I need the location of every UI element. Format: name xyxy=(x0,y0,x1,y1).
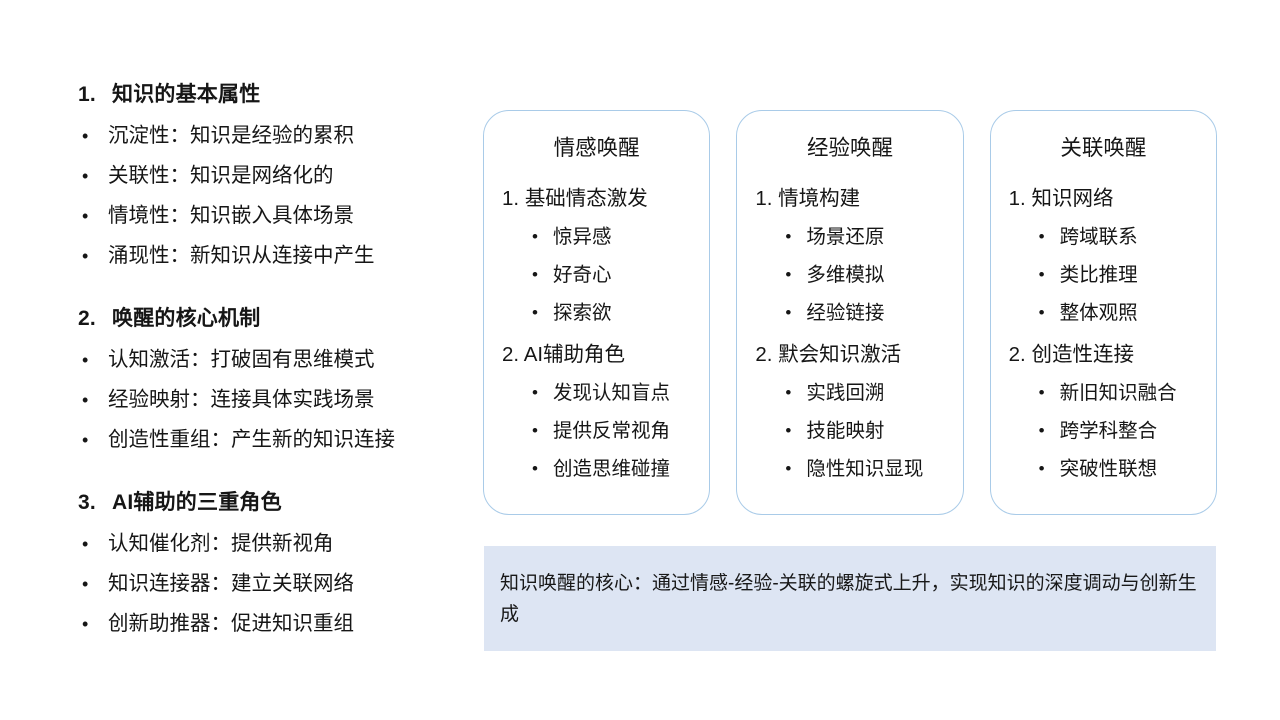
card-title: 经验唤醒 xyxy=(751,133,948,163)
bullet-dot-icon: • xyxy=(785,256,791,294)
card-title: 关联唤醒 xyxy=(1005,133,1202,163)
outline-section-heading: 3.AI辅助的三重角色 xyxy=(78,486,468,520)
card-item-label: 场景还原 xyxy=(806,226,884,248)
outline-section: 3.AI辅助的三重角色•认知催化剂：提供新视角•知识连接器：建立关联网络•创新助… xyxy=(78,486,468,644)
card-group: 2. 默会知识激活•实践回溯•技能映射•隐性知识显现 xyxy=(751,336,948,488)
card-list-item: •发现认知盲点 xyxy=(498,374,695,412)
card-list-item: •多维模拟 xyxy=(751,256,948,294)
outline-bullet-label: 沉淀性：知识是经验的累积 xyxy=(108,124,354,147)
bullet-dot-icon: • xyxy=(82,380,88,420)
card-list-item: •新旧知识融合 xyxy=(1005,374,1202,412)
card-list-item: •隐性知识显现 xyxy=(751,450,948,488)
card-list-item: •探索欲 xyxy=(498,294,695,332)
card-list-item: •技能映射 xyxy=(751,412,948,450)
card-group-label: 情境构建 xyxy=(778,187,860,210)
outline-bullet-item: •关联性：知识是网络化的 xyxy=(78,156,468,196)
awakening-card: 关联唤醒1. 知识网络•跨域联系•类比推理•整体观照2. 创造性连接•新旧知识融… xyxy=(990,110,1217,515)
bullet-dot-icon: • xyxy=(82,340,88,380)
card-list-item: •提供反常视角 xyxy=(498,412,695,450)
bullet-dot-icon: • xyxy=(532,374,538,412)
bullet-dot-icon: • xyxy=(82,420,88,460)
card-list-item: •跨域联系 xyxy=(1005,218,1202,256)
card-item-label: 跨学科整合 xyxy=(1060,420,1158,442)
awakening-card: 情感唤醒1. 基础情态激发•惊异感•好奇心•探索欲2. AI辅助角色•发现认知盲… xyxy=(483,110,710,515)
card-group-number: 2. xyxy=(502,336,519,374)
card-group-heading: 2. 创造性连接 xyxy=(1005,336,1202,374)
outline-bullet-label: 知识连接器：建立关联网络 xyxy=(108,572,354,595)
outline-section-title: 唤醒的核心机制 xyxy=(112,307,260,330)
bullet-dot-icon: • xyxy=(82,564,88,604)
card-item-list: •场景还原•多维模拟•经验链接 xyxy=(751,218,948,332)
bullet-dot-icon: • xyxy=(1039,256,1045,294)
outline-bullet-item: •情境性：知识嵌入具体场景 xyxy=(78,196,468,236)
card-item-label: 隐性知识显现 xyxy=(806,458,923,480)
card-item-label: 好奇心 xyxy=(553,264,612,286)
card-list-item: •实践回溯 xyxy=(751,374,948,412)
card-group-label: AI辅助角色 xyxy=(524,343,625,366)
bullet-dot-icon: • xyxy=(1039,218,1045,256)
card-item-label: 跨域联系 xyxy=(1060,226,1138,248)
card-group-heading: 1. 知识网络 xyxy=(1005,180,1202,218)
outline-bullet-label: 认知激活：打破固有思维模式 xyxy=(108,348,375,371)
bullet-dot-icon: • xyxy=(532,218,538,256)
outline-bullet-label: 关联性：知识是网络化的 xyxy=(108,164,334,187)
outline-section-heading: 1.知识的基本属性 xyxy=(78,78,468,112)
card-item-label: 发现认知盲点 xyxy=(553,382,670,404)
outline-bullet-label: 经验映射：连接具体实践场景 xyxy=(108,388,375,411)
outline-section: 1.知识的基本属性•沉淀性：知识是经验的累积•关联性：知识是网络化的•情境性：知… xyxy=(78,78,468,276)
card-list-item: •经验链接 xyxy=(751,294,948,332)
outline-bullet-item: •创新助推器：促进知识重组 xyxy=(78,604,468,644)
outline-section-title: AI辅助的三重角色 xyxy=(112,491,282,514)
card-list-item: •创造思维碰撞 xyxy=(498,450,695,488)
card-item-list: •惊异感•好奇心•探索欲 xyxy=(498,218,695,332)
summary-banner: 知识唤醒的核心：通过情感-经验-关联的螺旋式上升，实现知识的深度调动与创新生成 xyxy=(484,546,1216,651)
bullet-dot-icon: • xyxy=(1039,294,1045,332)
card-group-label: 默会知识激活 xyxy=(778,343,901,366)
card-group: 2. AI辅助角色•发现认知盲点•提供反常视角•创造思维碰撞 xyxy=(498,336,695,488)
bullet-dot-icon: • xyxy=(785,218,791,256)
bullet-dot-icon: • xyxy=(1039,450,1045,488)
card-item-label: 多维模拟 xyxy=(806,264,884,286)
card-group-label: 基础情态激发 xyxy=(525,187,648,210)
bullet-dot-icon: • xyxy=(532,256,538,294)
outline-section-heading: 2.唤醒的核心机制 xyxy=(78,302,468,336)
bullet-dot-icon: • xyxy=(82,604,88,644)
card-item-label: 实践回溯 xyxy=(806,382,884,404)
card-group: 2. 创造性连接•新旧知识融合•跨学科整合•突破性联想 xyxy=(1005,336,1202,488)
bullet-dot-icon: • xyxy=(82,156,88,196)
card-item-label: 技能映射 xyxy=(806,420,884,442)
outline-bullet-list: •认知催化剂：提供新视角•知识连接器：建立关联网络•创新助推器：促进知识重组 xyxy=(78,524,468,644)
card-group: 1. 知识网络•跨域联系•类比推理•整体观照 xyxy=(1005,180,1202,332)
bullet-dot-icon: • xyxy=(532,294,538,332)
outline-bullet-item: •认知激活：打破固有思维模式 xyxy=(78,340,468,380)
bullet-dot-icon: • xyxy=(785,450,791,488)
summary-text: 知识唤醒的核心：通过情感-经验-关联的螺旋式上升，实现知识的深度调动与创新生成 xyxy=(500,568,1205,630)
card-group-heading: 1. 情境构建 xyxy=(751,180,948,218)
card-group-number: 2. xyxy=(1009,336,1026,374)
left-outline-column: 1.知识的基本属性•沉淀性：知识是经验的累积•关联性：知识是网络化的•情境性：知… xyxy=(78,78,468,644)
outline-bullet-item: •沉淀性：知识是经验的累积 xyxy=(78,116,468,156)
bullet-dot-icon: • xyxy=(82,236,88,276)
card-item-label: 经验链接 xyxy=(806,302,884,324)
slide-canvas: 1.知识的基本属性•沉淀性：知识是经验的累积•关联性：知识是网络化的•情境性：知… xyxy=(0,0,1280,720)
card-list-item: •整体观照 xyxy=(1005,294,1202,332)
card-item-label: 创造思维碰撞 xyxy=(553,458,670,480)
outline-section-number: 2. xyxy=(78,302,112,336)
card-group: 1. 基础情态激发•惊异感•好奇心•探索欲 xyxy=(498,180,695,332)
bullet-dot-icon: • xyxy=(785,294,791,332)
card-item-label: 类比推理 xyxy=(1060,264,1138,286)
card-list-item: •场景还原 xyxy=(751,218,948,256)
bullet-dot-icon: • xyxy=(1039,374,1045,412)
card-list-item: •好奇心 xyxy=(498,256,695,294)
awakening-card: 经验唤醒1. 情境构建•场景还原•多维模拟•经验链接2. 默会知识激活•实践回溯… xyxy=(736,110,963,515)
outline-bullet-label: 创新助推器：促进知识重组 xyxy=(108,612,354,635)
outline-bullet-item: •经验映射：连接具体实践场景 xyxy=(78,380,468,420)
card-item-list: •跨域联系•类比推理•整体观照 xyxy=(1005,218,1202,332)
bullet-dot-icon: • xyxy=(82,524,88,564)
bullet-dot-icon: • xyxy=(1039,412,1045,450)
outline-bullet-label: 创造性重组：产生新的知识连接 xyxy=(108,428,395,451)
card-title: 情感唤醒 xyxy=(498,133,695,163)
card-group-number: 2. xyxy=(755,336,772,374)
outline-section-title: 知识的基本属性 xyxy=(112,83,260,106)
bullet-dot-icon: • xyxy=(785,412,791,450)
card-item-label: 探索欲 xyxy=(553,302,612,324)
card-group: 1. 情境构建•场景还原•多维模拟•经验链接 xyxy=(751,180,948,332)
outline-section-number: 1. xyxy=(78,78,112,112)
outline-bullet-item: •知识连接器：建立关联网络 xyxy=(78,564,468,604)
card-list-item: •突破性联想 xyxy=(1005,450,1202,488)
bullet-dot-icon: • xyxy=(82,116,88,156)
outline-bullet-label: 认知催化剂：提供新视角 xyxy=(108,532,334,555)
card-item-label: 惊异感 xyxy=(553,226,612,248)
card-item-list: •发现认知盲点•提供反常视角•创造思维碰撞 xyxy=(498,374,695,488)
card-item-list: •新旧知识融合•跨学科整合•突破性联想 xyxy=(1005,374,1202,488)
card-item-label: 提供反常视角 xyxy=(553,420,670,442)
card-list-item: •惊异感 xyxy=(498,218,695,256)
outline-bullet-item: •创造性重组：产生新的知识连接 xyxy=(78,420,468,460)
card-group-number: 1. xyxy=(502,180,519,218)
outline-bullet-label: 情境性：知识嵌入具体场景 xyxy=(108,204,354,227)
bullet-dot-icon: • xyxy=(785,374,791,412)
card-group-label: 创造性连接 xyxy=(1031,343,1134,366)
outline-section-number: 3. xyxy=(78,486,112,520)
bullet-dot-icon: • xyxy=(82,196,88,236)
outline-bullet-item: •认知催化剂：提供新视角 xyxy=(78,524,468,564)
bullet-dot-icon: • xyxy=(532,450,538,488)
outline-bullet-item: •涌现性：新知识从连接中产生 xyxy=(78,236,468,276)
outline-bullet-list: •沉淀性：知识是经验的累积•关联性：知识是网络化的•情境性：知识嵌入具体场景•涌… xyxy=(78,116,468,276)
card-group-heading: 2. AI辅助角色 xyxy=(498,336,695,374)
bullet-dot-icon: • xyxy=(532,412,538,450)
card-group-label: 知识网络 xyxy=(1031,187,1113,210)
outline-bullet-list: •认知激活：打破固有思维模式•经验映射：连接具体实践场景•创造性重组：产生新的知… xyxy=(78,340,468,460)
awakening-cards-row: 情感唤醒1. 基础情态激发•惊异感•好奇心•探索欲2. AI辅助角色•发现认知盲… xyxy=(483,110,1217,515)
outline-bullet-label: 涌现性：新知识从连接中产生 xyxy=(108,244,375,267)
card-list-item: •类比推理 xyxy=(1005,256,1202,294)
card-group-number: 1. xyxy=(1009,180,1026,218)
card-list-item: •跨学科整合 xyxy=(1005,412,1202,450)
card-group-heading: 1. 基础情态激发 xyxy=(498,180,695,218)
card-item-label: 突破性联想 xyxy=(1060,458,1158,480)
card-group-number: 1. xyxy=(755,180,772,218)
card-item-label: 整体观照 xyxy=(1060,302,1138,324)
card-group-heading: 2. 默会知识激活 xyxy=(751,336,948,374)
card-item-label: 新旧知识融合 xyxy=(1060,382,1177,404)
card-item-list: •实践回溯•技能映射•隐性知识显现 xyxy=(751,374,948,488)
outline-section: 2.唤醒的核心机制•认知激活：打破固有思维模式•经验映射：连接具体实践场景•创造… xyxy=(78,302,468,460)
